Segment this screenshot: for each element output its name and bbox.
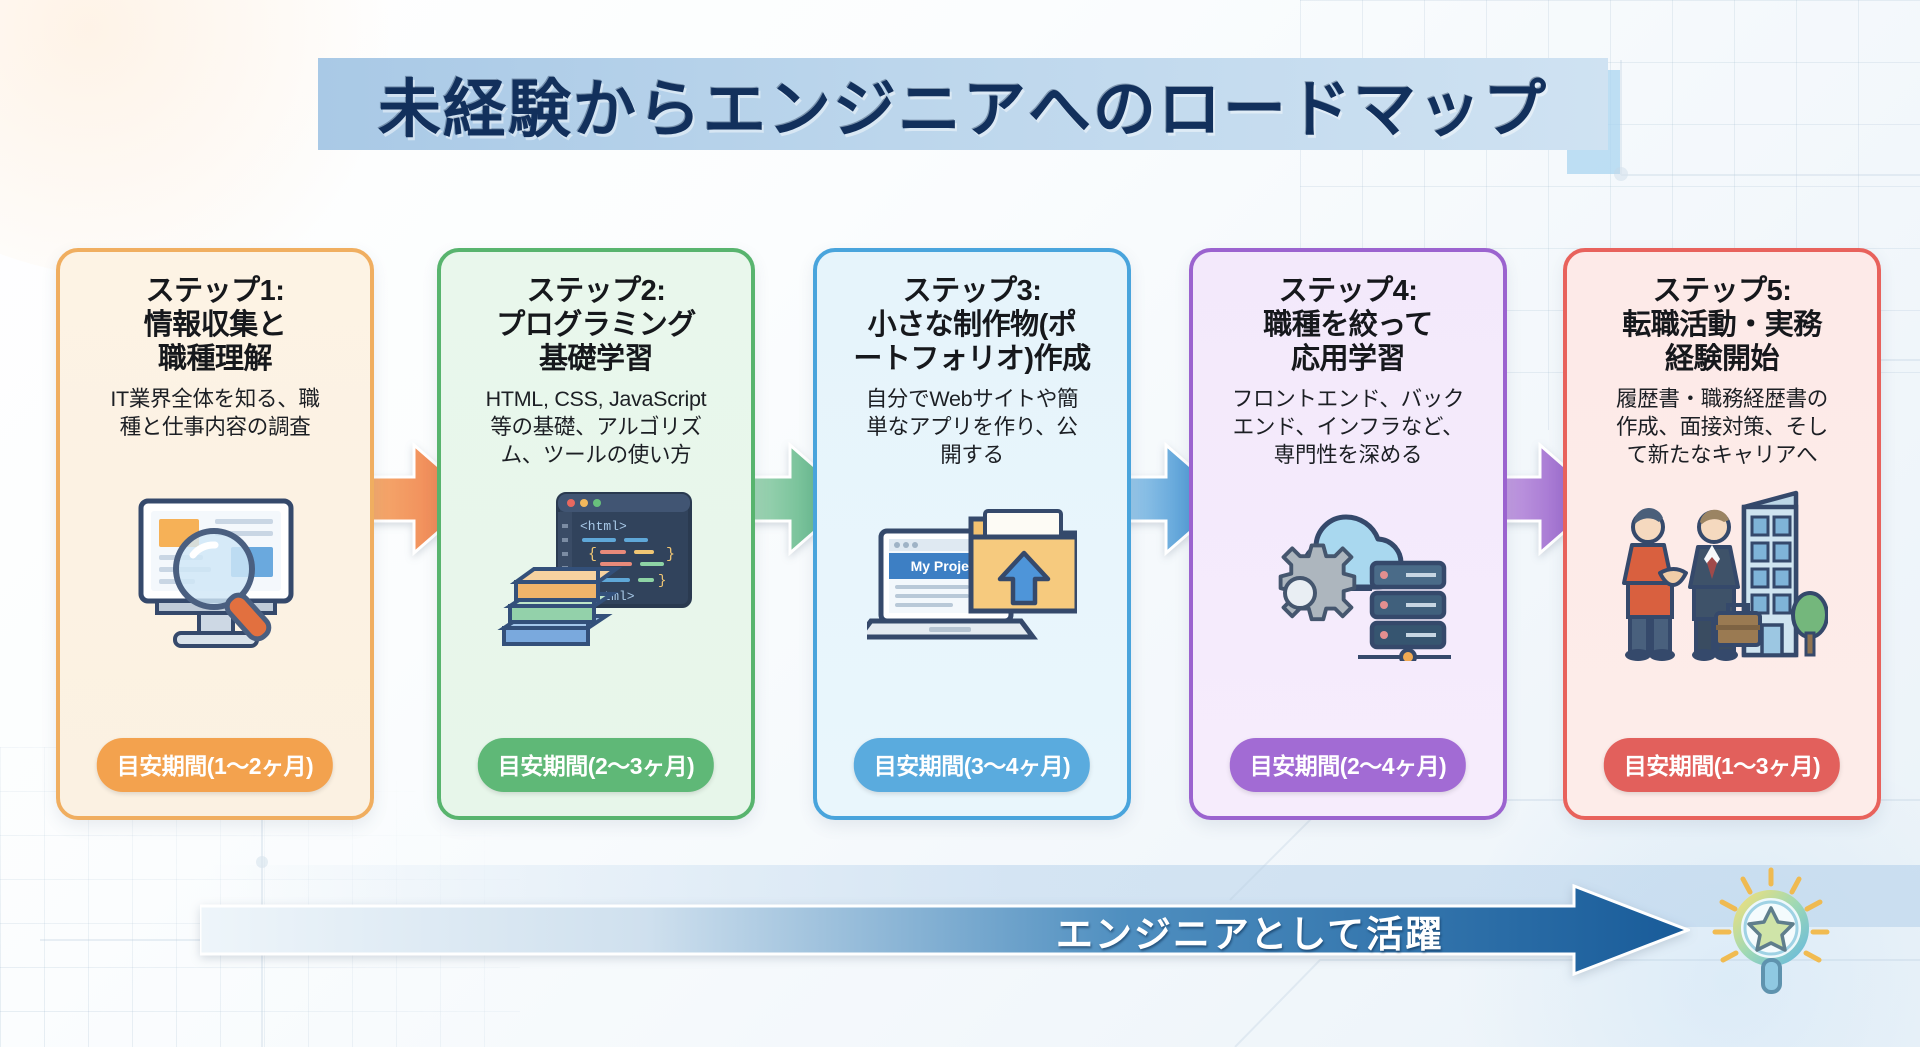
step-card-1[interactable]: ステップ1: 情報収集と 職種理解 IT業界全体を知る、職 種と仕事内容の調査 (56, 248, 374, 820)
step-card-2-description: HTML, CSS, JavaScript 等の基礎、アルゴリズ ム、ツールの使… (486, 386, 707, 470)
step-card-1-duration-badge: 目安期間(1〜2ヶ月) (97, 738, 333, 792)
step-card-3-description: 自分でWebサイトや簡 単なアプリを作り、公 開する (866, 386, 1079, 470)
step-card-3-duration-badge: 目安期間(3〜4ヶ月) (854, 738, 1090, 792)
step-card-5-description: 履歴書・職務経歴書の 作成、面接対策、そし て新たなキャリアへ (1616, 386, 1828, 470)
step-card-2-duration-badge: 目安期間(2〜3ヶ月) (478, 738, 714, 792)
step-card-4-heading: 職種を絞って 応用学習 (1263, 308, 1433, 376)
infographic-canvas: 未経験からエンジニアへのロードマップ ステップ1: 情報収集と 職種理解 IT業… (0, 0, 1920, 1047)
step-card-1-illustration (60, 480, 370, 670)
step-card-3-step-label: ステップ3: (903, 274, 1042, 308)
laptop-upload-folder-icon: My Project (867, 491, 1077, 659)
step-card-3[interactable]: ステップ3: 小さな制作物(ポ ートフォリオ)作成 自分でWebサイトや簡 単な… (813, 248, 1131, 820)
star-magnifier-achievement-icon (1705, 862, 1853, 1010)
monitor-magnifier-icon (119, 489, 311, 661)
steps-row: ステップ1: 情報収集と 職種理解 IT業界全体を知る、職 種と仕事内容の調査 (0, 248, 1920, 820)
step-card-4-step-label: ステップ4: (1279, 274, 1418, 308)
page-title-banner: 未経験からエンジニアへのロードマップ (318, 58, 1608, 150)
step-card-3-illustration: My Project (817, 480, 1127, 670)
handshake-office-icon (1616, 489, 1828, 661)
step-card-4[interactable]: ステップ4: 職種を絞って 応用学習 フロントエンド、バック エンド、インフラな… (1189, 248, 1507, 820)
step-card-5-duration-badge: 目安期間(1〜3ヶ月) (1604, 738, 1840, 792)
step-card-5[interactable]: ステップ5: 転職活動・実務 経験開始 履歴書・職務経歴書の 作成、面接対策、そ… (1563, 248, 1881, 820)
svg-text:<html>: <html> (580, 519, 627, 534)
cloud-gear-server-icon (1246, 489, 1451, 661)
svg-text:{: { (588, 546, 597, 563)
step-card-1-heading: 情報収集と 職種理解 (144, 308, 287, 376)
books-code-editor-icon: <html> { } } </html> (496, 488, 696, 663)
step-card-2-illustration: <html> { } } </html> (441, 480, 751, 670)
svg-text:}: } (658, 573, 666, 589)
step-card-1-step-label: ステップ1: (146, 274, 285, 308)
page-title: 未経験からエンジニアへのロードマップ (378, 59, 1548, 150)
step-card-5-step-label: ステップ5: (1653, 274, 1792, 308)
step-card-1-description: IT業界全体を知る、職 種と仕事内容の調査 (110, 386, 319, 442)
step-card-4-duration-badge: 目安期間(2〜4ヶ月) (1230, 738, 1466, 792)
step-card-5-heading: 転職活動・実務 経験開始 (1622, 308, 1822, 376)
step-card-3-heading: 小さな制作物(ポ ートフォリオ)作成 (853, 308, 1090, 376)
bottom-banner-label: エンジニアとして活躍 (990, 902, 1510, 960)
step-card-4-illustration (1193, 480, 1503, 670)
svg-text:}: } (666, 546, 675, 563)
step-card-2-heading: プログラミング 基礎学習 (496, 308, 696, 376)
step-card-4-description: フロントエンド、バック エンド、インフラなど、 専門性を深める (1232, 386, 1464, 470)
step-card-5-illustration (1567, 480, 1877, 670)
step-card-2-step-label: ステップ2: (527, 274, 666, 308)
step-card-2[interactable]: ステップ2: プログラミング 基礎学習 HTML, CSS, JavaScrip… (437, 248, 755, 820)
